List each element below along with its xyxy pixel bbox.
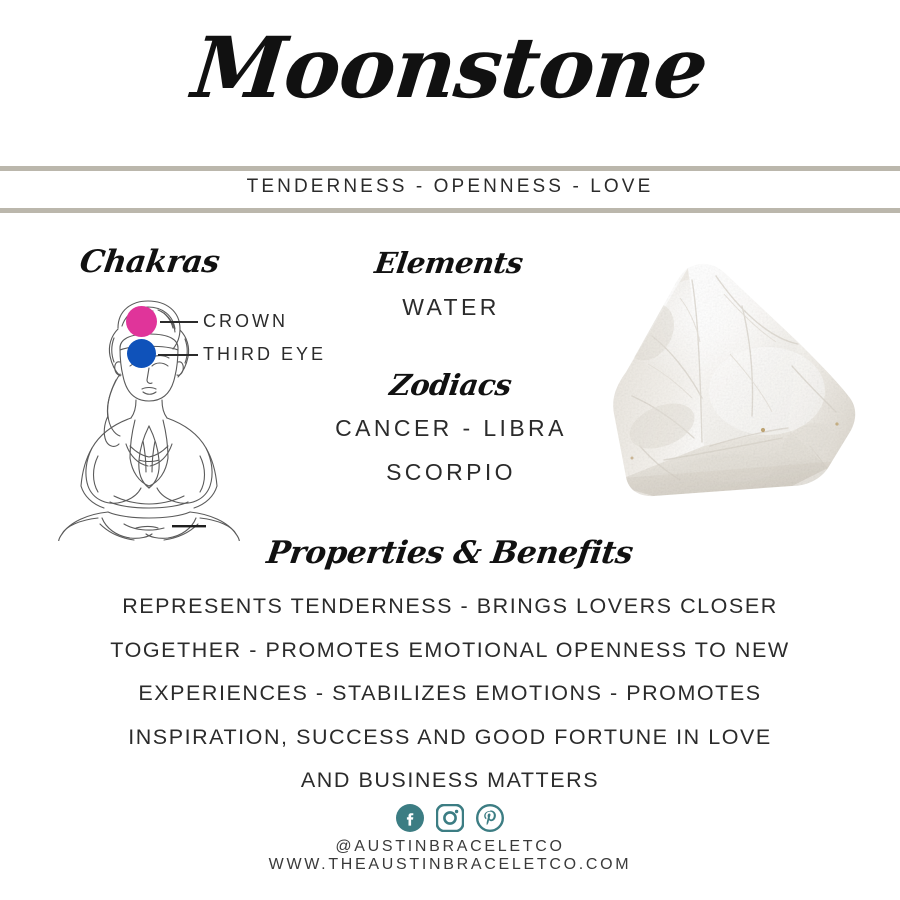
- infographic-page: Moonstone TENDERNESS - OPENNESS - LOVE C…: [0, 0, 900, 900]
- chakras-heading: Chakras: [77, 244, 221, 280]
- chakra-leader-third-eye: [158, 354, 198, 356]
- social-handle[interactable]: @AUSTINBRACELETCO: [0, 838, 900, 856]
- properties-heading-wrap: Properties & Benefits: [0, 535, 900, 571]
- properties-body: REPRESENTS TENDERNESS - BRINGS LOVERS CL…: [30, 585, 870, 803]
- pinterest-icon[interactable]: [476, 804, 504, 832]
- website-url[interactable]: WWW.THEAUSTINBRACELETCO.COM: [0, 856, 900, 874]
- social-links: [0, 804, 900, 832]
- properties-heading: Properties & Benefits: [265, 535, 636, 571]
- elements-value-water: WATER: [290, 294, 612, 321]
- chakra-label-third-eye: THIRD EYE: [203, 344, 326, 365]
- page-title: Moonstone: [189, 26, 712, 110]
- zodiacs-line-1: CANCER - LIBRA: [290, 415, 612, 442]
- chakras-heading-wrap: Chakras: [80, 244, 219, 280]
- chakra-leader-crown: [160, 321, 198, 323]
- chakra-dot-third-eye: [127, 339, 156, 368]
- moonstone-specimen-image: [592, 246, 882, 531]
- chakra-label-crown: CROWN: [203, 311, 288, 332]
- tagline: TENDERNESS - OPENNESS - LOVE: [0, 176, 900, 198]
- instagram-icon[interactable]: [436, 804, 464, 832]
- zodiacs-line-2: SCORPIO: [290, 459, 612, 486]
- properties-line: AND BUSINESS MATTERS: [30, 759, 870, 803]
- elements-heading: Elements: [373, 246, 525, 280]
- properties-line: TOGETHER - PROMOTES EMOTIONAL OPENNESS T…: [30, 629, 870, 673]
- divider-top: [0, 166, 900, 171]
- properties-line: REPRESENTS TENDERNESS - BRINGS LOVERS CL…: [30, 585, 870, 629]
- facebook-icon[interactable]: [396, 804, 424, 832]
- zodiacs-heading-wrap: Zodiacs: [290, 368, 612, 402]
- divider-bottom: [0, 208, 900, 213]
- page-title-wrap: Moonstone: [0, 26, 900, 110]
- chakra-dot-crown: [126, 306, 157, 337]
- zodiacs-heading: Zodiacs: [388, 368, 514, 402]
- properties-line: EXPERIENCES - STABILIZES EMOTIONS - PROM…: [30, 672, 870, 716]
- properties-line: INSPIRATION, SUCCESS AND GOOD FORTUNE IN…: [30, 716, 870, 760]
